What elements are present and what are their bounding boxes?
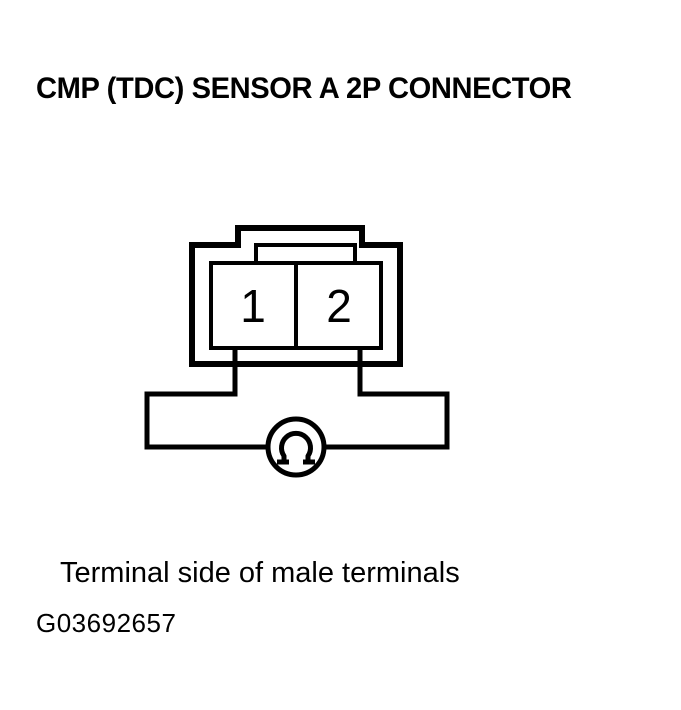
ohmmeter-gauge [268, 419, 324, 475]
ohmmeter-circle [268, 419, 324, 475]
illustration-page: CMP (TDC) SENSOR A 2P CONNECTOR [0, 0, 681, 710]
figure-caption: Terminal side of male terminals [60, 556, 460, 590]
connector-diagram-svg: 1 2 [0, 0, 681, 520]
terminal-number-2-label: 2 [326, 280, 352, 332]
connector-diagram: 1 2 [0, 0, 681, 520]
terminal-number-1-label: 1 [240, 280, 266, 332]
terminal-cavity-group [211, 263, 381, 348]
illustration-reference-code: G03692657 [36, 608, 176, 638]
